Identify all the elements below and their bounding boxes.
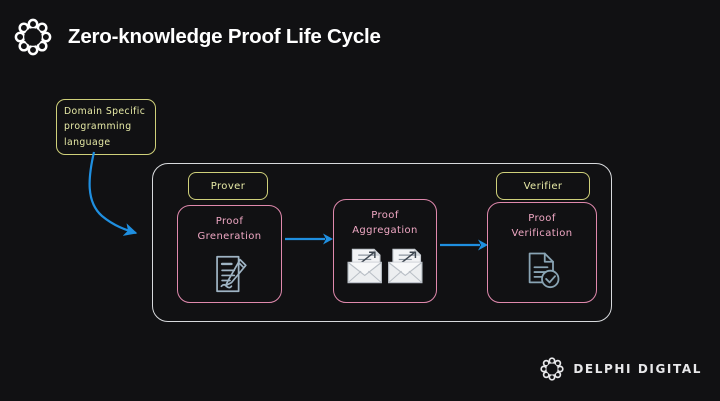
- arrow-aggregation-to-verification-icon: [440, 238, 490, 252]
- slide-header: Zero-knowledge Proof Life Cycle: [14, 18, 381, 56]
- stage-proof-aggregation-label: Proof Aggregation: [352, 208, 418, 238]
- role-pill-prover[interactable]: Prover: [188, 172, 268, 200]
- domain-specific-language-box[interactable]: Domain Specific programming language: [56, 99, 156, 155]
- stage-proof-verification-label: Proof Verification: [512, 211, 573, 241]
- page-title: Zero-knowledge Proof Life Cycle: [68, 25, 381, 49]
- domain-specific-language-label: Domain Specific programming language: [64, 104, 155, 151]
- stage-proof-generation[interactable]: Proof Greneration: [177, 205, 282, 303]
- role-pill-verifier-label: Verifier: [524, 179, 563, 194]
- document-with-pen-icon: [207, 251, 253, 297]
- stage-proof-generation-label: Proof Greneration: [197, 214, 261, 244]
- delphi-ring-icon: [540, 357, 564, 381]
- footer-wordmark: DELPHI DIGITAL: [573, 362, 702, 376]
- document-check-icon: [520, 248, 564, 292]
- footer-branding: DELPHI DIGITAL: [540, 357, 702, 381]
- arrow-generation-to-aggregation-icon: [285, 232, 335, 246]
- stage-proof-verification[interactable]: Proof Verification: [487, 202, 597, 303]
- role-pill-verifier[interactable]: Verifier: [496, 172, 590, 200]
- role-pill-prover-label: Prover: [211, 179, 245, 194]
- stage-proof-aggregation[interactable]: Proof Aggregation: [333, 199, 437, 303]
- slide-canvas: Zero-knowledge Proof Life Cycle Domain S…: [0, 0, 720, 401]
- two-envelopes-icon: [345, 245, 425, 287]
- delphi-ring-icon: [14, 18, 52, 56]
